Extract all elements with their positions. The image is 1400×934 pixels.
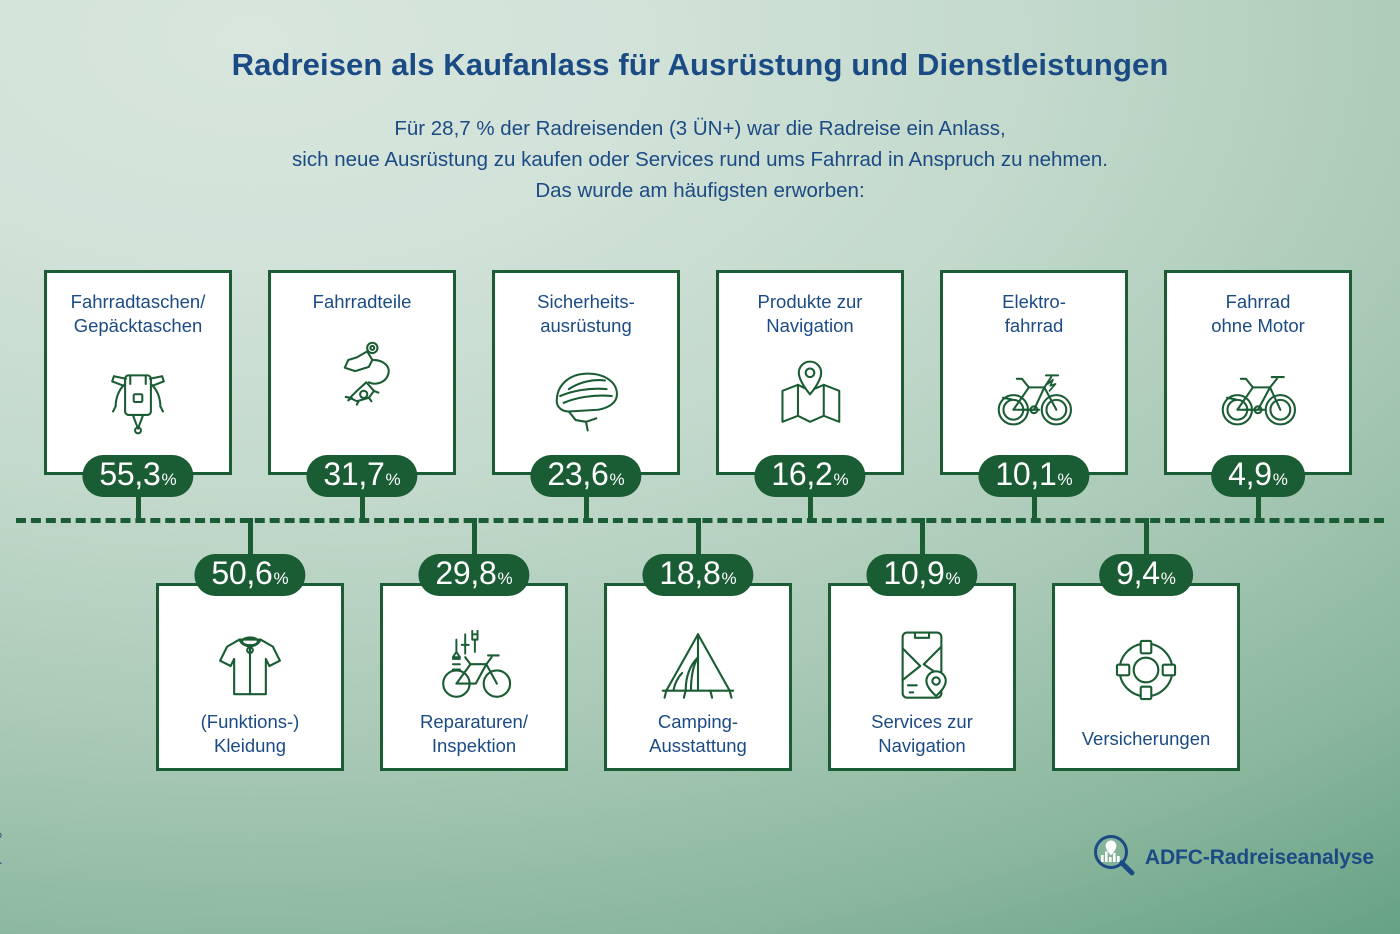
helmet-icon (543, 350, 629, 442)
smartphone-map-icon (878, 622, 966, 710)
card-label: Sicherheits- ausrüstung (537, 290, 635, 338)
metric-card: Reparaturen/ Inspektion (380, 583, 568, 771)
percentage-badge: 16,2% (754, 455, 865, 497)
percent-sign: % (833, 471, 848, 488)
metric-card: Fahrradtaschen/ Gepäcktaschen (44, 270, 232, 475)
percent-sign: % (273, 570, 288, 587)
percentage-badge: 23,6% (530, 455, 641, 497)
jersey-icon (206, 622, 294, 710)
metric-card: Fahrrad ohne Motor (1164, 270, 1352, 475)
subtitle: Für 28,7 % der Radreisenden (3 ÜN+) war … (0, 84, 1400, 207)
card-label: Elektro- fahrrad (1002, 290, 1066, 338)
infographic-canvas: Radreisen als Kaufanlass für Ausrüstung … (0, 0, 1400, 934)
percentage-badge: 10,1% (978, 455, 1089, 497)
card-label: Fahrrad ohne Motor (1211, 290, 1305, 338)
percentage-value: 50,6 (211, 557, 272, 589)
subtitle-line-3: Das wurde am häufigsten erworben: (0, 175, 1400, 206)
tent-icon (654, 622, 742, 710)
card-label: Camping- Ausstattung (649, 710, 747, 775)
percent-sign: % (1161, 570, 1176, 587)
percent-sign: % (721, 570, 736, 587)
percent-sign: % (1057, 471, 1072, 488)
percent-sign: % (945, 570, 960, 587)
percentage-value: 18,8 (659, 557, 720, 589)
metric-card: Services zur Navigation (828, 583, 1016, 771)
derailleur-icon (319, 326, 405, 418)
percent-sign: % (1273, 471, 1288, 488)
map-pin-icon (767, 350, 853, 442)
percentage-badge: 31,7% (306, 455, 417, 497)
metric-card: Fahrradteile (268, 270, 456, 475)
percentage-badge: 18,8% (642, 554, 753, 596)
percentage-value: 9,4 (1116, 557, 1160, 589)
percentage-value: 16,2 (771, 458, 832, 490)
percentage-value: 10,9 (883, 557, 944, 589)
pannier-bag-icon (95, 350, 181, 442)
metric-card: (Funktions-) Kleidung (156, 583, 344, 771)
page-title: Radreisen als Kaufanlass für Ausrüstung … (0, 0, 1400, 84)
percentage-value: 55,3 (99, 458, 160, 490)
repair-tools-icon (430, 622, 518, 710)
percentage-badge: 55,3% (82, 455, 193, 497)
metric-card: Elektro- fahrrad (940, 270, 1128, 475)
header: Radreisen als Kaufanlass für Ausrüstung … (0, 0, 1400, 207)
card-label: (Funktions-) Kleidung (201, 710, 300, 775)
adfc-logo: ADFC-Radreiseanalyse (1092, 833, 1374, 882)
percentage-badge: 4,9% (1211, 455, 1305, 497)
percentage-value: 4,9 (1228, 458, 1272, 490)
percent-sign: % (497, 570, 512, 587)
metric-card: Versicherungen (1052, 583, 1240, 771)
percentage-badge: 29,8% (418, 554, 529, 596)
lifebuoy-icon (1102, 622, 1190, 718)
ebike-icon (991, 350, 1077, 442)
percentage-value: 23,6 (547, 458, 608, 490)
percentage-badge: 9,4% (1099, 554, 1193, 596)
metric-card: Sicherheits- ausrüstung (492, 270, 680, 475)
bicycle-icon (1215, 350, 1301, 442)
metric-card: Produkte zur Navigation (716, 270, 904, 475)
percentage-badge: 50,6% (194, 554, 305, 596)
copyright-notice: ©ADFC/april agentur (0, 804, 2, 916)
percentage-value: 31,7 (323, 458, 384, 490)
card-label: Produkte zur Navigation (758, 290, 863, 338)
percent-sign: % (385, 471, 400, 488)
percentage-value: 10,1 (995, 458, 1056, 490)
magnifier-chart-icon (1092, 833, 1136, 882)
percentage-badge: 10,9% (866, 554, 977, 596)
card-label: Fahrradteile (313, 290, 412, 314)
subtitle-line-1: Für 28,7 % der Radreisenden (3 ÜN+) war … (0, 113, 1400, 144)
percent-sign: % (161, 471, 176, 488)
percent-sign: % (609, 471, 624, 488)
card-label: Reparaturen/ Inspektion (420, 710, 528, 775)
metric-card: Camping- Ausstattung (604, 583, 792, 771)
card-label: Versicherungen (1082, 727, 1211, 768)
subtitle-line-2: sich neue Ausrüstung zu kaufen oder Serv… (0, 144, 1400, 175)
percentage-value: 29,8 (435, 557, 496, 589)
card-label: Services zur Navigation (871, 710, 973, 775)
logo-text: ADFC-Radreiseanalyse (1145, 846, 1374, 870)
card-label: Fahrradtaschen/ Gepäcktaschen (71, 290, 206, 338)
